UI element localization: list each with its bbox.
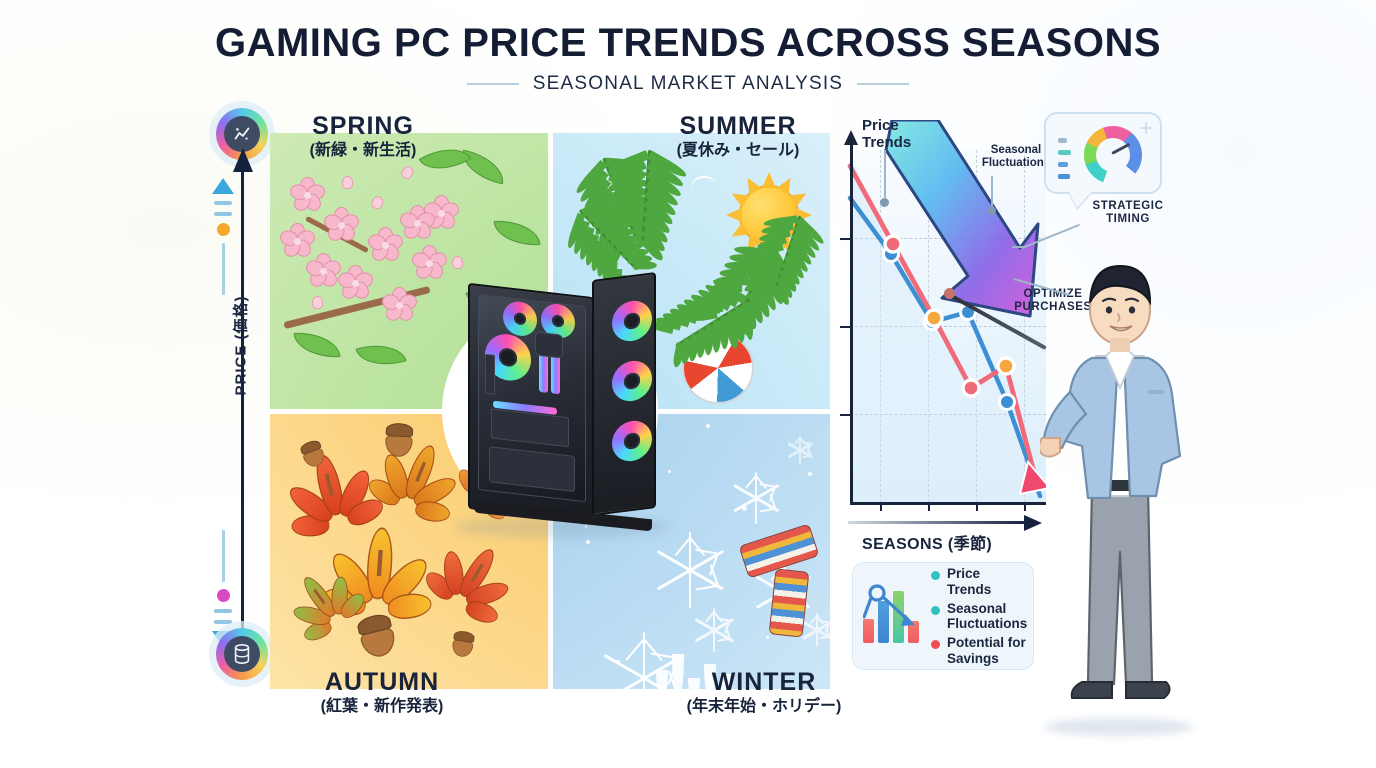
season-label-autumn: AUTUMN (紅葉・新作発表) xyxy=(262,668,502,716)
leader-line xyxy=(884,150,886,198)
subtitle-row: SEASONAL MARKET ANALYSIS xyxy=(0,73,1376,95)
gauge-dial-icon xyxy=(1084,126,1142,184)
leader-arrow-stub xyxy=(1012,246,1026,248)
beach-ball-icon xyxy=(682,332,754,404)
legend-dot-price-trends xyxy=(931,571,940,580)
pc-front-panel xyxy=(592,272,656,516)
legend-label-seasonal: Seasonal Fluctuations xyxy=(947,601,1027,632)
dot-marker-orange xyxy=(217,223,230,236)
presenter-figure xyxy=(1040,252,1200,730)
database-icon xyxy=(216,628,268,680)
season-label-winter: WINTER (年末年始・ホリデー) xyxy=(644,668,884,716)
pc-glass-window xyxy=(478,294,586,502)
pc-side-panel xyxy=(468,283,594,523)
bubble-bar-1 xyxy=(1058,138,1067,143)
rgb-fan-front-1 xyxy=(612,299,652,344)
gaming-pc-tower xyxy=(468,276,658,528)
bubble-bar-4 xyxy=(1058,174,1070,179)
sun-ray xyxy=(762,172,776,188)
dash-mark xyxy=(214,212,232,216)
season-jp-spring: (新緑・新生活) xyxy=(243,142,483,160)
axis-tick-line xyxy=(222,530,225,582)
rgb-fan-top-1 xyxy=(503,300,537,338)
season-jp-winter: (年末年始・ホリデー) xyxy=(644,698,884,716)
gpu-card xyxy=(491,408,569,447)
legend-label-savings: Potential for Savings xyxy=(947,635,1027,666)
bar-chart-down-arrow-icon xyxy=(863,583,925,649)
strategic-timing-bubble xyxy=(1044,112,1162,194)
axis-deco-top xyxy=(208,178,238,295)
season-jp-autumn: (紅葉・新作発表) xyxy=(262,698,502,716)
legend-item: Price Trends xyxy=(931,566,1027,597)
sun-ray xyxy=(796,208,812,222)
axis-tick-line xyxy=(222,243,225,295)
page-title: GAMING PC PRICE TRENDS ACROSS SEASONS xyxy=(0,22,1376,64)
leader-line xyxy=(991,176,993,208)
dot-marker-magenta xyxy=(217,589,230,602)
season-name-autumn: AUTUMN xyxy=(262,668,502,696)
season-label-spring: SPRING (新緑・新生活) xyxy=(243,112,483,160)
price-axis-label: PRICE (価格) xyxy=(230,286,251,406)
header: GAMING PC PRICE TRENDS ACROSS SEASONS SE… xyxy=(0,22,1376,95)
sun-icon xyxy=(726,172,812,258)
plus-icon xyxy=(1140,122,1152,134)
season-name-summer: SUMMER xyxy=(618,112,858,140)
legend-label-price-trends: Price Trends xyxy=(947,566,1027,597)
legend-dot-seasonal xyxy=(931,606,940,615)
season-label-summer: SUMMER (夏休み・セール) xyxy=(618,112,858,160)
rule-right xyxy=(857,83,909,85)
sun-ray xyxy=(762,242,776,258)
seasons-axis-label: SEASONS (季節) xyxy=(862,530,992,554)
cpu-block xyxy=(535,331,563,358)
dash-mark xyxy=(214,609,232,613)
season-jp-summer: (夏休み・セール) xyxy=(618,142,858,160)
page-subtitle: SEASONAL MARKET ANALYSIS xyxy=(533,73,843,95)
annotation-strategic-timing: STRATEGIC TIMING xyxy=(1078,200,1178,226)
psu-shroud xyxy=(489,446,575,492)
legend-item: Potential for Savings xyxy=(931,635,1027,666)
badge-inner-bottom xyxy=(224,636,260,672)
seasons-axis-arrow xyxy=(848,516,1044,530)
legend-item: Seasonal Fluctuations xyxy=(931,601,1027,632)
scarf-icon xyxy=(738,534,834,654)
bubble-tail xyxy=(1068,190,1093,208)
io-panel xyxy=(485,354,495,395)
leader-dot xyxy=(987,206,996,215)
rule-left xyxy=(467,83,519,85)
season-name-spring: SPRING xyxy=(243,112,483,140)
triangle-up-icon xyxy=(212,178,234,194)
dash-mark xyxy=(214,201,232,205)
chart-legend: Price Trends Seasonal Fluctuations Poten… xyxy=(852,562,1034,670)
infographic-canvas: GAMING PC PRICE TRENDS ACROSS SEASONS SE… xyxy=(0,0,1376,768)
sun-ray xyxy=(726,208,742,222)
season-name-winter: WINTER xyxy=(644,668,884,696)
rgb-fan-front-2 xyxy=(612,359,652,404)
legend-items: Price Trends Seasonal Fluctuations Poten… xyxy=(931,566,1027,666)
rgb-fan-front-3 xyxy=(612,419,652,464)
y-axis-line xyxy=(850,142,853,502)
bubble-bar-3 xyxy=(1058,162,1068,167)
annotation-price-trends: Price Trends xyxy=(862,118,911,152)
leader-dot xyxy=(880,198,889,207)
pointer-tip xyxy=(944,288,955,299)
x-axis-line xyxy=(850,502,1046,505)
legend-trend-arrow xyxy=(863,583,925,631)
dash-mark xyxy=(214,620,232,624)
bubble-bar-2 xyxy=(1058,150,1071,155)
legend-dot-savings xyxy=(931,640,940,649)
